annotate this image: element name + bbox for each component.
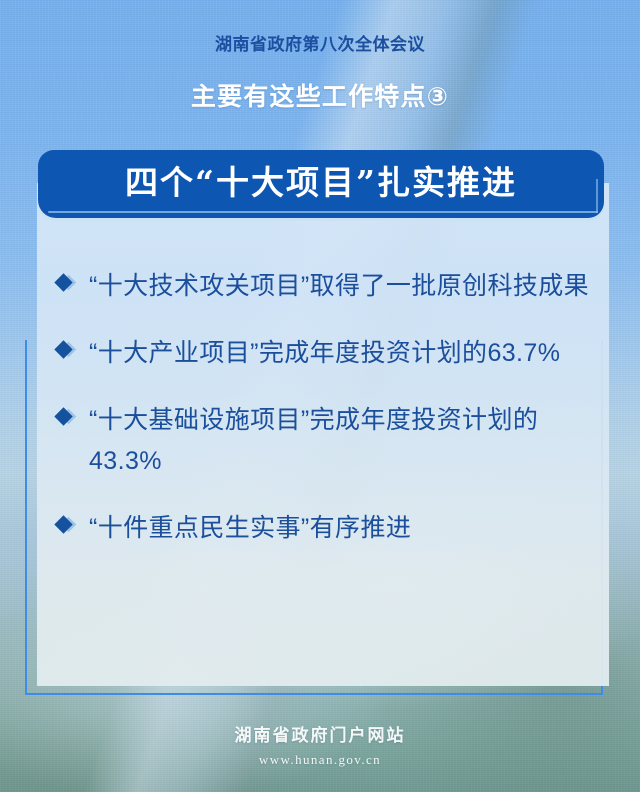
meeting-subtitle: 湖南省政府第八次全体会议 — [0, 36, 640, 53]
diamond-bullet-icon — [53, 508, 81, 542]
section-banner-title: 四个“十大项目”扎实推进 — [38, 159, 604, 207]
list-item: “十大基础设施项目”完成年度投资计划的43.3% — [53, 400, 598, 482]
banner-inner-hairline — [48, 211, 598, 213]
list-item-text: “十大基础设施项目”完成年度投资计划的43.3% — [89, 400, 598, 482]
site-url: www.hunan.gov.cn — [0, 753, 640, 766]
diamond-bullet-icon — [53, 266, 81, 300]
site-name: 湖南省政府门户网站 — [0, 727, 640, 744]
list-item: “十大技术攻关项目”取得了一批原创科技成果 — [53, 266, 598, 307]
list-item-text: “十大技术攻关项目”取得了一批原创科技成果 — [89, 266, 598, 307]
page-title: 主要有这些工作特点③ — [0, 85, 640, 110]
diamond-bullet-icon — [53, 333, 81, 367]
list-item-text: “十件重点民生实事”有序推进 — [89, 508, 598, 549]
infographic-poster: 湖南省政府第八次全体会议 主要有这些工作特点③ 四个“十大项目”扎实推进 “十大… — [0, 0, 640, 792]
poster-footer: 湖南省政府门户网站 www.hunan.gov.cn — [0, 727, 640, 766]
list-item-text: “十大产业项目”完成年度投资计划的63.7% — [89, 333, 598, 374]
bullet-list: “十大技术攻关项目”取得了一批原创科技成果 “十大产业项目”完成年度投资计划的6… — [53, 266, 598, 575]
list-item: “十件重点民生实事”有序推进 — [53, 508, 598, 549]
list-item: “十大产业项目”完成年度投资计划的63.7% — [53, 333, 598, 374]
poster-header: 湖南省政府第八次全体会议 主要有这些工作特点③ — [0, 0, 640, 110]
section-banner: 四个“十大项目”扎实推进 — [38, 150, 604, 225]
diamond-bullet-icon — [53, 400, 81, 434]
